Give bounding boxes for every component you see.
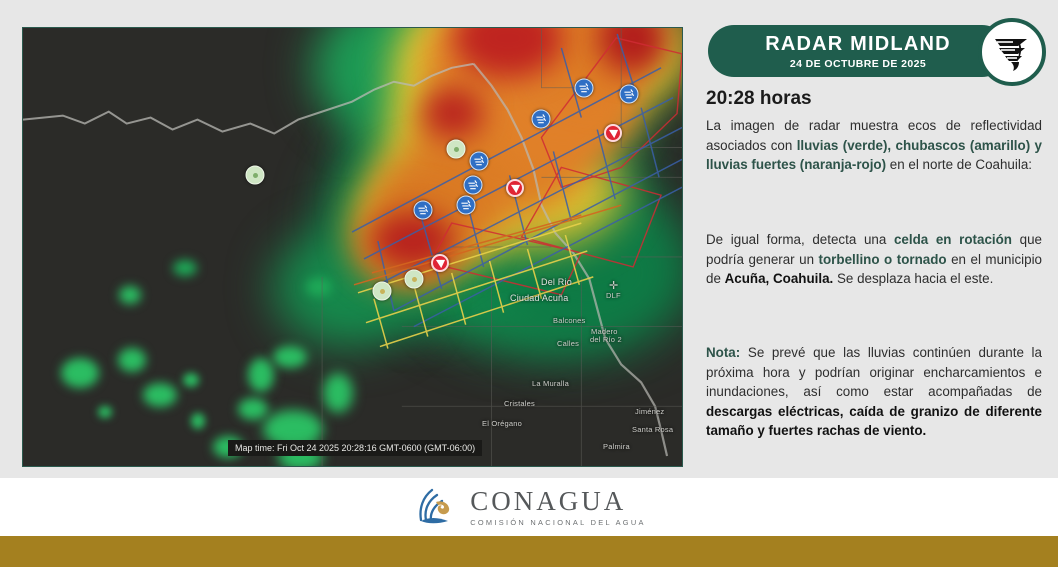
p2-text-4: Se desplaza hacia el este. bbox=[833, 271, 993, 286]
p2-text-1: De igual forma, detecta una bbox=[706, 232, 894, 247]
p2-location: Acuña, Coahuila. bbox=[725, 271, 834, 286]
radar-echo-red bbox=[423, 88, 483, 138]
conagua-wave-eagle-icon bbox=[412, 484, 458, 530]
report-hour: 20:28 horas bbox=[706, 88, 812, 110]
city-label: Palmira bbox=[603, 442, 630, 451]
paragraph-reflectivity: La imagen de radar muestra ecos de refle… bbox=[706, 116, 1042, 175]
radar-echo-green bbox=[173, 260, 197, 276]
city-label: El Orégano bbox=[482, 419, 522, 428]
radar-echo-green bbox=[248, 358, 274, 392]
gold-bar bbox=[0, 536, 1058, 567]
storm-track-marker[interactable] bbox=[620, 85, 639, 104]
tornado-warning-marker[interactable] bbox=[431, 254, 449, 272]
city-label: Ciudad Acuña bbox=[510, 293, 568, 303]
radar-echo-green bbox=[238, 398, 268, 420]
radar-map-panel[interactable]: Del Rio DLF ✛ Ciudad Acuña Balcones Made… bbox=[22, 27, 683, 467]
nota-label: Nota: bbox=[706, 345, 740, 360]
radar-site-marker[interactable] bbox=[447, 140, 466, 159]
paragraph-nota: Nota: Se prevé que las lluvias continúen… bbox=[706, 343, 1042, 441]
page-title: RADAR MIDLAND bbox=[765, 33, 951, 56]
city-label: Jiménez bbox=[635, 407, 664, 416]
map-timestamp: Map time: Fri Oct 24 2025 20:28:16 GMT-0… bbox=[228, 440, 482, 456]
radar-echo-green bbox=[119, 286, 141, 304]
city-label: Calles bbox=[557, 339, 579, 348]
storm-track-marker[interactable] bbox=[575, 79, 594, 98]
radar-echo-green bbox=[273, 346, 307, 368]
radar-echo-green bbox=[143, 383, 177, 407]
footer-band: CONAGUA COMISIÓN NACIONAL DEL AGUA bbox=[0, 478, 1058, 536]
radar-echo-green bbox=[191, 413, 205, 429]
radar-echo-green bbox=[118, 348, 146, 372]
logo-subtitle: COMISIÓN NACIONAL DEL AGUA bbox=[470, 518, 645, 527]
radar-echo-green bbox=[98, 406, 112, 418]
city-label: Cristales bbox=[504, 399, 535, 408]
city-label: DLF bbox=[606, 291, 621, 300]
radar-echo-green bbox=[61, 358, 99, 388]
city-label: Santa Rosa bbox=[632, 425, 673, 434]
p3-bold-1: descargas eléctricas, caída de granizo d… bbox=[706, 404, 1042, 439]
airport-icon: ✛ bbox=[609, 279, 618, 292]
p2-highlight-1: celda en rotación bbox=[894, 232, 1012, 247]
conagua-logo: CONAGUA COMISIÓN NACIONAL DEL AGUA bbox=[0, 478, 1058, 536]
storm-track-marker[interactable] bbox=[414, 201, 433, 220]
tornado-warning-marker[interactable] bbox=[604, 124, 622, 142]
city-label: Del Rio bbox=[541, 277, 572, 287]
p2-highlight-2: torbellino o tornado bbox=[819, 252, 947, 267]
city-label: Balcones bbox=[553, 316, 585, 325]
storm-track-marker[interactable] bbox=[464, 176, 483, 195]
p3-text-1: Se prevé que las lluvias continúen duran… bbox=[706, 345, 1042, 399]
tornado-icon bbox=[978, 18, 1046, 86]
p1-text-2: en el norte de Coahuila: bbox=[886, 157, 1032, 172]
radar-site-marker[interactable] bbox=[405, 270, 424, 289]
storm-track-marker[interactable] bbox=[532, 110, 551, 129]
radar-echo-green bbox=[323, 373, 353, 413]
radar-echo-green bbox=[183, 373, 199, 387]
storm-track-marker[interactable] bbox=[457, 196, 476, 215]
header-title-pill: RADAR MIDLAND 24 DE OCTUBRE DE 2025 bbox=[708, 25, 1008, 77]
radar-site-marker[interactable] bbox=[246, 166, 265, 185]
city-label: La Muralla bbox=[532, 379, 569, 388]
info-panel: RADAR MIDLAND 24 DE OCTUBRE DE 2025 20:2… bbox=[700, 0, 1058, 478]
tornado-warning-marker[interactable] bbox=[506, 179, 524, 197]
paragraph-rotation: De igual forma, detecta una celda en rot… bbox=[706, 230, 1042, 289]
storm-track-marker[interactable] bbox=[470, 152, 489, 171]
radar-echo-green bbox=[306, 278, 332, 296]
radar-site-marker[interactable] bbox=[373, 282, 392, 301]
city-label: del Río 2 bbox=[590, 335, 622, 344]
logo-name: CONAGUA bbox=[470, 488, 645, 515]
header-date: 24 DE OCTUBRE DE 2025 bbox=[790, 58, 926, 70]
